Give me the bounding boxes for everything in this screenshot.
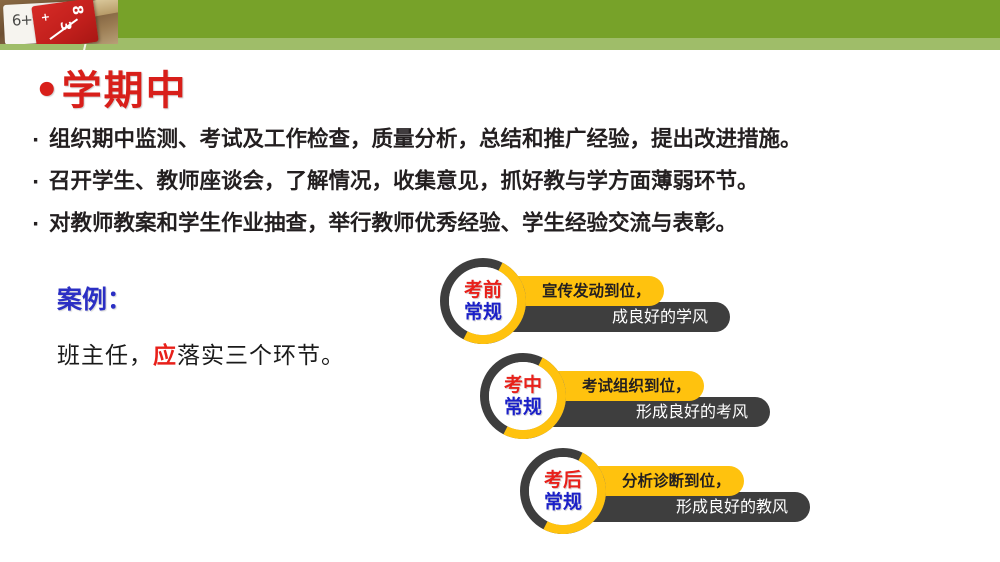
circle-label-line1: 考后 [544, 469, 582, 491]
case-text-before: 班主任， [57, 343, 153, 369]
circle-inner-label: 考后 常规 [529, 457, 597, 525]
case-text-highlight: 应 [153, 342, 177, 369]
circle-label-line1: 考前 [464, 279, 502, 301]
exam-routine-diagram: 成良好的学风 宣传发动到位， 考前 常规 形成良好的考风 考试组织到位， 考中 … [440, 258, 870, 553]
bullet-item: · 对教师教案和学生作业抽查，举行教师优秀经验、学生经验交流与表彰。 [32, 203, 982, 245]
bullet-text: 组织期中监测、考试及工作检查，质量分析，总结和推广经验，提出改进措施。 [49, 119, 802, 161]
banner-green-band [0, 0, 1000, 38]
bullet-marker-icon: · [32, 203, 49, 245]
circle-label-line2: 常规 [504, 396, 542, 418]
circle-label-line1: 考中 [504, 374, 542, 396]
bullet-item: · 召开学生、教师座谈会，了解情况，收集意见，抓好教与学方面薄弱环节。 [32, 161, 982, 203]
bullet-text: 对教师教案和学生作业抽查，举行教师优秀经验、学生经验交流与表彰。 [49, 203, 737, 245]
bullet-item: · 组织期中监测、考试及工作检查，质量分析，总结和推广经验，提出改进措施。 [32, 119, 982, 161]
circle-label-line2: 常规 [544, 491, 582, 513]
step-circle-badge: 考后 常规 [520, 448, 606, 534]
bullet-list: · 组织期中监测、考试及工作检查，质量分析，总结和推广经验，提出改进措施。 · … [32, 119, 982, 245]
red-card-plus-sign: + [38, 12, 52, 23]
bullet-marker-icon: · [32, 161, 49, 203]
circle-label-line2: 常规 [464, 301, 502, 323]
case-text-after: 落实三个环节。 [177, 343, 345, 369]
step-circle-badge: 考前 常规 [440, 258, 526, 344]
top-banner: 6+9 8 + 3 [0, 0, 1000, 48]
bullet-text: 召开学生、教师座谈会，了解情况，收集意见，抓好教与学方面薄弱环节。 [49, 161, 759, 203]
diagram-step: 成良好的学风 宣传发动到位， 考前 常规 [440, 258, 840, 358]
case-study-text: 班主任，应落实三个环节。 [57, 336, 345, 370]
diagram-step: 形成良好的教风 分析诊断到位， 考后 常规 [520, 448, 920, 548]
step-circle-badge: 考中 常规 [480, 353, 566, 439]
red-card-digit-8: 8 [68, 4, 85, 16]
banner-photo-flashcards: 6+9 8 + 3 [0, 0, 118, 44]
circle-inner-label: 考中 常规 [489, 362, 557, 430]
case-study-label: 案例： [57, 280, 132, 316]
circle-inner-label: 考前 常规 [449, 267, 517, 335]
diagram-step: 形成良好的考风 考试组织到位， 考中 常规 [480, 353, 880, 453]
banner-green-light-band [0, 38, 1000, 50]
page-title: •学期中 [34, 58, 188, 116]
bullet-marker-icon: · [32, 119, 49, 161]
red-flashcard: 8 + 3 [31, 0, 99, 44]
